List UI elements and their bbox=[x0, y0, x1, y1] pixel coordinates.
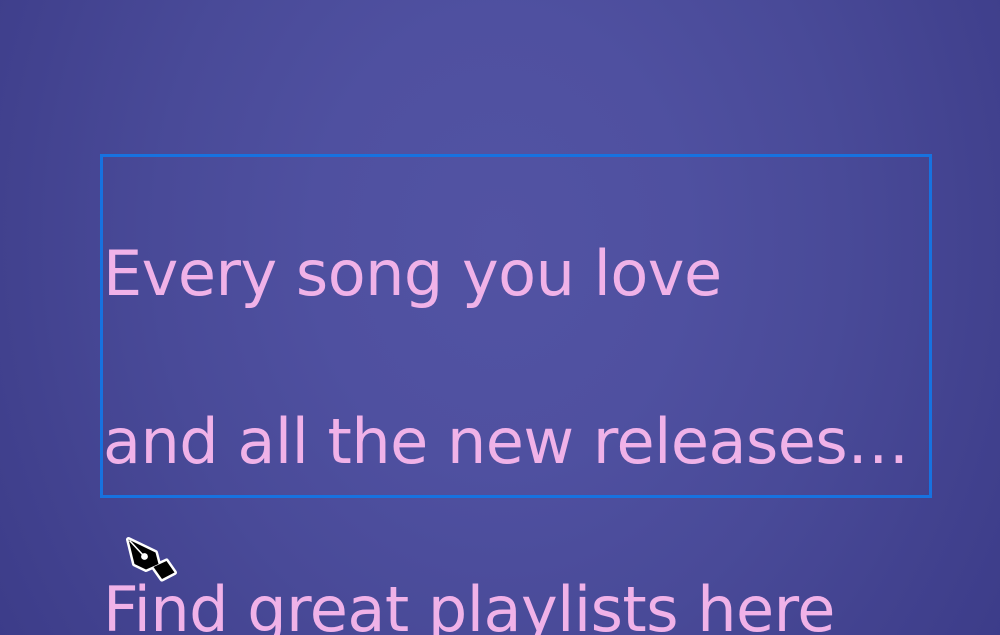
text-frame-selection-box[interactable] bbox=[100, 154, 932, 498]
pen-nib-cursor bbox=[124, 534, 182, 592]
headline-line-3: Find great playlists here bbox=[103, 568, 983, 635]
design-canvas[interactable]: Every song you love and all the new rele… bbox=[0, 0, 1000, 635]
